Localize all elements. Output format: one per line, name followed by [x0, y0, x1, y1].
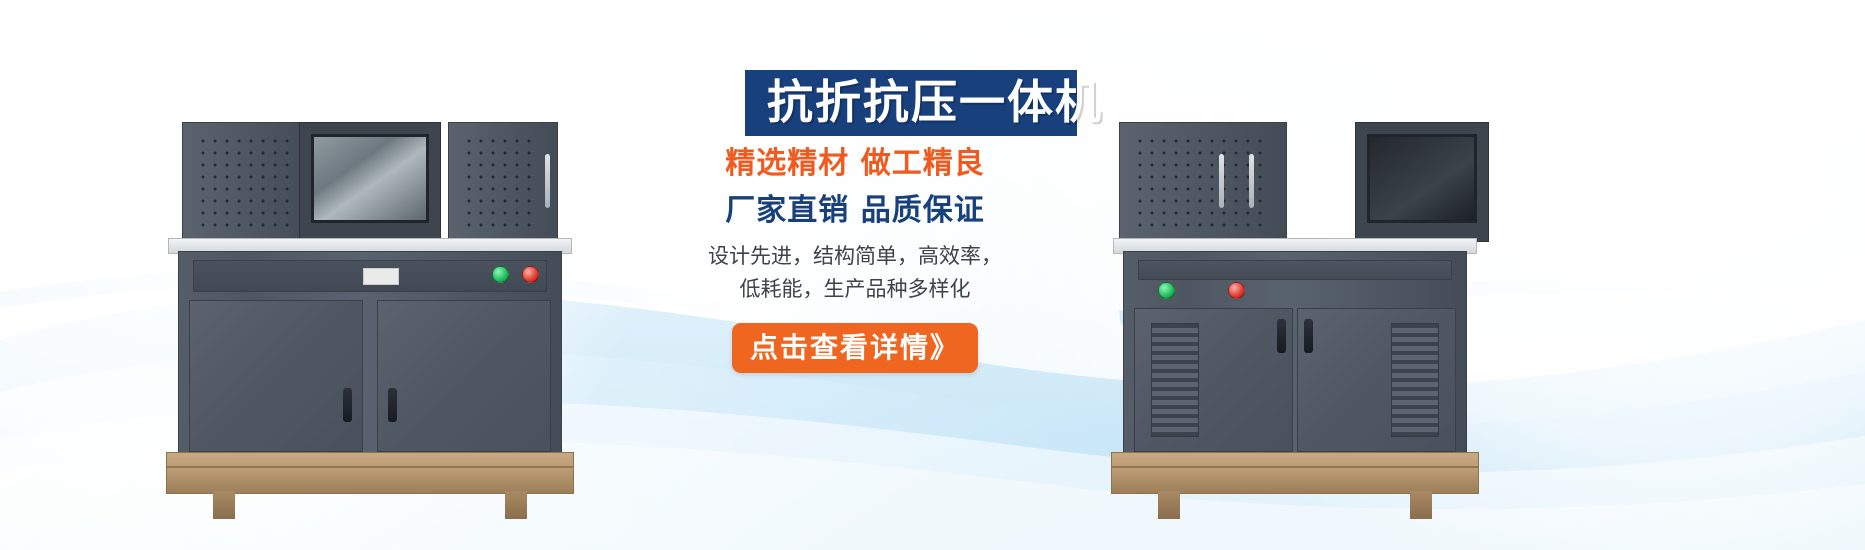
- left-machine-door-right: [377, 300, 551, 452]
- cabinet-handle-icon: [1249, 154, 1254, 208]
- monitor-screen: [311, 134, 429, 223]
- door-handle-icon: [1304, 319, 1313, 353]
- ventilation-grille-icon: [1151, 323, 1199, 437]
- left-machine-upper-cabinet-right: [448, 122, 558, 242]
- banner-copy-block: 抗折抗压一体机 精选精材 做工精良 厂家直销 品质保证 设计先进，结构简单，高效…: [640, 70, 1070, 373]
- description-line-1: 设计先进，结构简单，高效率，: [640, 240, 1070, 273]
- description-line-2: 低耗能，生产品种多样化: [640, 273, 1070, 306]
- right-machine-door-right: [1297, 308, 1456, 452]
- left-machine-base-cabinet: [178, 251, 562, 458]
- right-machine-monitor: [1355, 122, 1489, 242]
- page-title: 抗折抗压一体机: [767, 79, 1059, 125]
- cabinet-handle-icon: [1219, 154, 1224, 208]
- left-machine-upper-cabinet-left: [182, 122, 312, 242]
- power-led-red-icon: [1228, 282, 1245, 299]
- subtitle-orange: 精选精材 做工精良: [640, 144, 1070, 183]
- product-image-left: [160, 124, 580, 494]
- door-handle-icon: [388, 388, 397, 422]
- perforated-panel-icon: [1134, 135, 1264, 229]
- right-machine-upper-cabinet: [1119, 122, 1287, 242]
- pallet-slat: [1112, 466, 1478, 468]
- left-machine-monitor: [299, 122, 441, 242]
- control-label-plate: [363, 268, 399, 285]
- monitor-screen: [1367, 134, 1477, 223]
- power-led-green-icon: [492, 266, 509, 283]
- perforated-panel-icon: [197, 135, 289, 229]
- product-banner: 抗折抗压一体机 精选精材 做工精良 厂家直销 品质保证 设计先进，结构简单，高效…: [0, 0, 1865, 550]
- left-machine-wood-pallet: [166, 452, 574, 494]
- right-machine-door-left: [1134, 308, 1293, 452]
- power-led-green-icon: [1158, 282, 1175, 299]
- subtitle-blue: 厂家直销 品质保证: [640, 191, 1070, 230]
- cabinet-handle-icon: [545, 154, 550, 208]
- door-handle-icon: [343, 388, 352, 422]
- product-image-right: [1105, 124, 1485, 494]
- view-details-button[interactable]: 点击查看详情》: [732, 323, 978, 373]
- right-machine-base-cabinet: [1123, 251, 1467, 458]
- ventilation-grille-icon: [1391, 323, 1439, 437]
- title-band: 抗折抗压一体机: [745, 70, 1077, 136]
- pallet-slat: [167, 466, 573, 468]
- left-machine-door-left: [189, 300, 363, 452]
- power-led-red-icon: [522, 266, 539, 283]
- perforated-panel-icon: [463, 135, 535, 229]
- right-machine-control-panel: [1138, 260, 1452, 280]
- right-machine-wood-pallet: [1111, 452, 1479, 494]
- door-handle-icon: [1277, 319, 1286, 353]
